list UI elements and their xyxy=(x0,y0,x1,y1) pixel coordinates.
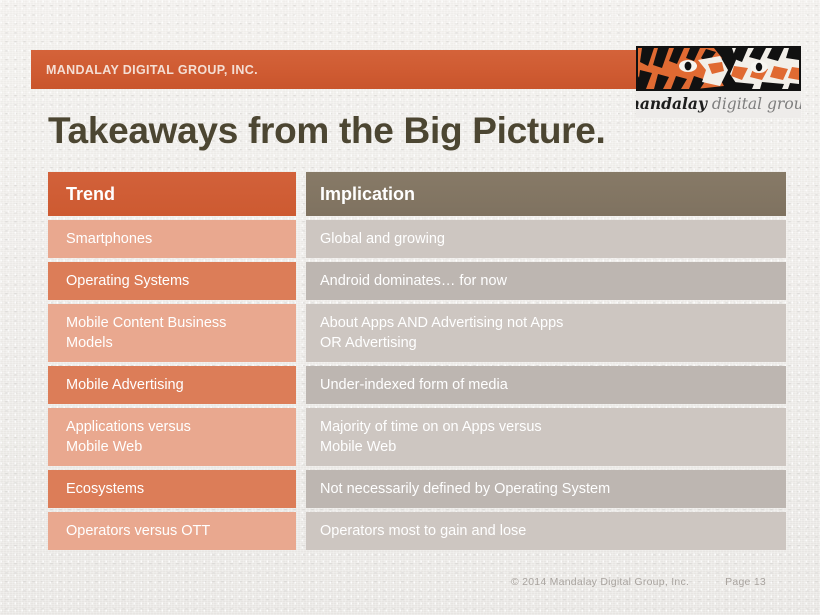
cell-trend: Mobile Advertising xyxy=(48,366,296,404)
cell-line: Mobile Web xyxy=(66,437,282,457)
tiger-face-logo-icon xyxy=(636,46,801,91)
cell-line: Majority of time on on Apps versus xyxy=(320,417,772,437)
table-row: Mobile Content Business Models About App… xyxy=(48,304,786,362)
cell-implication: Android dominates… for now xyxy=(306,262,786,300)
table-row: Operating Systems Android dominates… for… xyxy=(48,262,786,300)
cell-line: Models xyxy=(66,333,282,353)
footer-copyright: © 2014 Mandalay Digital Group, Inc. xyxy=(511,576,689,588)
cell-implication: Majority of time on on Apps versus Mobil… xyxy=(306,408,786,466)
table-row: Mobile Advertising Under-indexed form of… xyxy=(48,366,786,404)
cell-line: Mobile Web xyxy=(320,437,772,457)
cell-line: Ecosystems xyxy=(66,479,282,499)
cell-implication: Global and growing xyxy=(306,220,786,258)
column-header-trend: Trend xyxy=(48,172,296,216)
cell-line: Mobile Advertising xyxy=(66,375,282,395)
cell-trend: Mobile Content Business Models xyxy=(48,304,296,362)
cell-line: Global and growing xyxy=(320,229,772,249)
cell-line: Android dominates… for now xyxy=(320,271,772,291)
cell-trend: Ecosystems xyxy=(48,470,296,508)
takeaways-table: Trend Implication Smartphones Global and… xyxy=(48,172,786,554)
cell-implication: Not necessarily defined by Operating Sys… xyxy=(306,470,786,508)
cell-implication: About Apps AND Advertising not Apps OR A… xyxy=(306,304,786,362)
page-title: Takeaways from the Big Picture. xyxy=(48,110,606,152)
cell-line: OR Advertising xyxy=(320,333,772,353)
table-row: Applications versus Mobile Web Majority … xyxy=(48,408,786,466)
column-header-implication: Implication xyxy=(306,172,786,216)
cell-line: Mobile Content Business xyxy=(66,313,282,333)
cell-line: Operators versus OTT xyxy=(66,521,282,541)
cell-line: Under-indexed form of media xyxy=(320,375,772,395)
cell-implication: Under-indexed form of media xyxy=(306,366,786,404)
cell-line: Smartphones xyxy=(66,229,282,249)
cell-line: Operators most to gain and lose xyxy=(320,521,772,541)
cell-implication: Operators most to gain and lose xyxy=(306,512,786,550)
logo-wordmark: mandalay digital group xyxy=(636,91,801,118)
cell-trend: Operating Systems xyxy=(48,262,296,300)
brand-logo: mandalay digital group xyxy=(636,46,801,118)
footer-page-number: Page 13 xyxy=(725,576,772,588)
cell-trend: Applications versus Mobile Web xyxy=(48,408,296,466)
slide-footer: © 2014 Mandalay Digital Group, Inc. Page… xyxy=(48,574,772,590)
cell-line: About Apps AND Advertising not Apps xyxy=(320,313,772,333)
logo-wordmark-primary: mandalay xyxy=(636,94,707,113)
cell-line: Not necessarily defined by Operating Sys… xyxy=(320,479,772,499)
table-row: Smartphones Global and growing xyxy=(48,220,786,258)
slide-content-area: MANDALAY DIGITAL GROUP, INC. xyxy=(8,8,812,607)
cell-trend: Smartphones xyxy=(48,220,296,258)
cell-line: Applications versus xyxy=(66,417,282,437)
presentation-slide: MANDALAY DIGITAL GROUP, INC. xyxy=(0,0,820,615)
company-name-label: MANDALAY DIGITAL GROUP, INC. xyxy=(46,63,258,77)
table-row: Operators versus OTT Operators most to g… xyxy=(48,512,786,550)
cell-line: Operating Systems xyxy=(66,271,282,291)
cell-trend: Operators versus OTT xyxy=(48,512,296,550)
logo-wordmark-secondary: digital group xyxy=(707,95,801,113)
table-row: Ecosystems Not necessarily defined by Op… xyxy=(48,470,786,508)
table-header-row: Trend Implication xyxy=(48,172,786,216)
